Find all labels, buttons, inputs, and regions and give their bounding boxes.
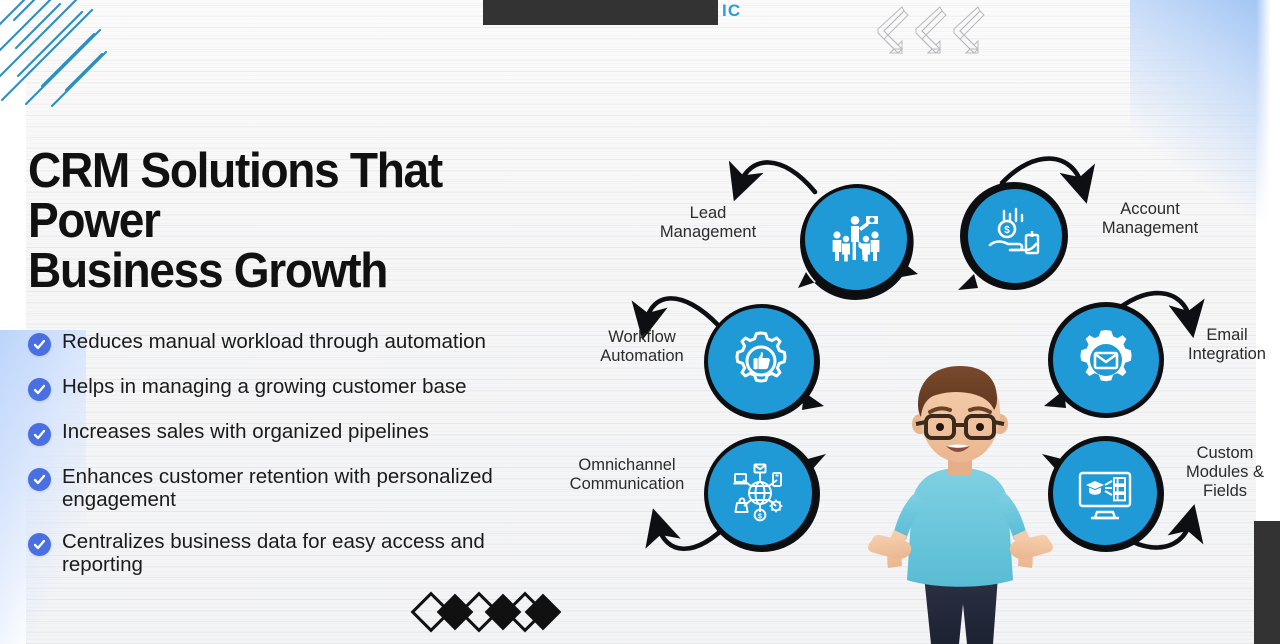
left-content-column: CRM Solutions That Power Business Growth… xyxy=(28,146,588,595)
benefits-list: Reduces manual workload through automati… xyxy=(28,330,588,576)
node-label: Email Integration xyxy=(1152,326,1280,364)
check-circle-icon xyxy=(28,533,51,556)
leader-team-icon xyxy=(825,208,887,270)
list-item: Enhances customer retention with persona… xyxy=(28,465,588,511)
node-custom-modules-fields[interactable]: Custom Modules & Fields xyxy=(1040,430,1172,558)
list-item-label: Reduces manual workload through automati… xyxy=(62,330,486,353)
check-circle-icon xyxy=(28,423,51,446)
diamond-row-decoration xyxy=(412,592,554,636)
hand-money-icon: $ xyxy=(986,207,1044,265)
slide-canvas: IC xyxy=(0,0,1280,644)
node-icon-circle xyxy=(1053,441,1157,545)
node-label: Lead Management xyxy=(633,204,783,242)
list-item: Increases sales with organized pipelines xyxy=(28,420,588,446)
list-item-label: Increases sales with organized pipelines xyxy=(62,420,429,443)
node-omnichannel-communication[interactable]: $ Omnichannel Communication xyxy=(698,430,828,558)
gear-envelope-icon xyxy=(1073,327,1139,393)
top-overlay-bar xyxy=(483,0,718,25)
node-label: Custom Modules & Fields xyxy=(1150,444,1280,501)
check-circle-icon xyxy=(28,378,51,401)
node-label: Omnichannel Communication xyxy=(556,456,698,494)
globe-network-icon: $ xyxy=(728,461,792,525)
list-item-label: Helps in managing a growing customer bas… xyxy=(62,375,467,398)
node-account-management[interactable]: $ Account Management xyxy=(952,178,1082,303)
svg-text:$: $ xyxy=(1004,225,1010,236)
list-item-label: Centralizes business data for easy acces… xyxy=(62,530,567,576)
monitor-modules-icon xyxy=(1073,461,1137,525)
node-icon-circle: $ xyxy=(708,441,812,545)
node-workflow-automation[interactable]: Workflow Automation xyxy=(700,300,828,426)
node-lead-management[interactable]: Lead Management xyxy=(788,178,928,308)
list-item: Centralizes business data for easy acces… xyxy=(28,530,588,576)
list-item: Reduces manual workload through automati… xyxy=(28,330,588,356)
crm-features-diagram: Lead Management $ xyxy=(570,130,1280,644)
node-label: Account Management xyxy=(1070,200,1230,238)
node-icon-circle xyxy=(805,188,907,290)
check-circle-icon xyxy=(28,333,51,356)
list-item: Helps in managing a growing customer bas… xyxy=(28,375,588,401)
gear-thumbsup-icon xyxy=(728,328,794,394)
page-title: CRM Solutions That Power Business Growth xyxy=(28,146,554,296)
left-white-margin xyxy=(0,0,26,644)
shrugging-person-illustration xyxy=(868,360,1053,644)
triple-chevron-left-icon xyxy=(876,8,991,60)
node-icon-circle: $ xyxy=(968,189,1062,283)
check-circle-icon xyxy=(28,468,51,491)
node-icon-circle xyxy=(708,308,814,414)
list-item-label: Enhances customer retention with persona… xyxy=(62,465,567,511)
overlay-label: IC xyxy=(722,1,741,21)
node-icon-circle xyxy=(1053,307,1159,413)
node-email-integration[interactable]: Email Integration xyxy=(1042,298,1170,426)
node-label: Workflow Automation xyxy=(582,328,702,366)
svg-text:$: $ xyxy=(758,513,762,520)
